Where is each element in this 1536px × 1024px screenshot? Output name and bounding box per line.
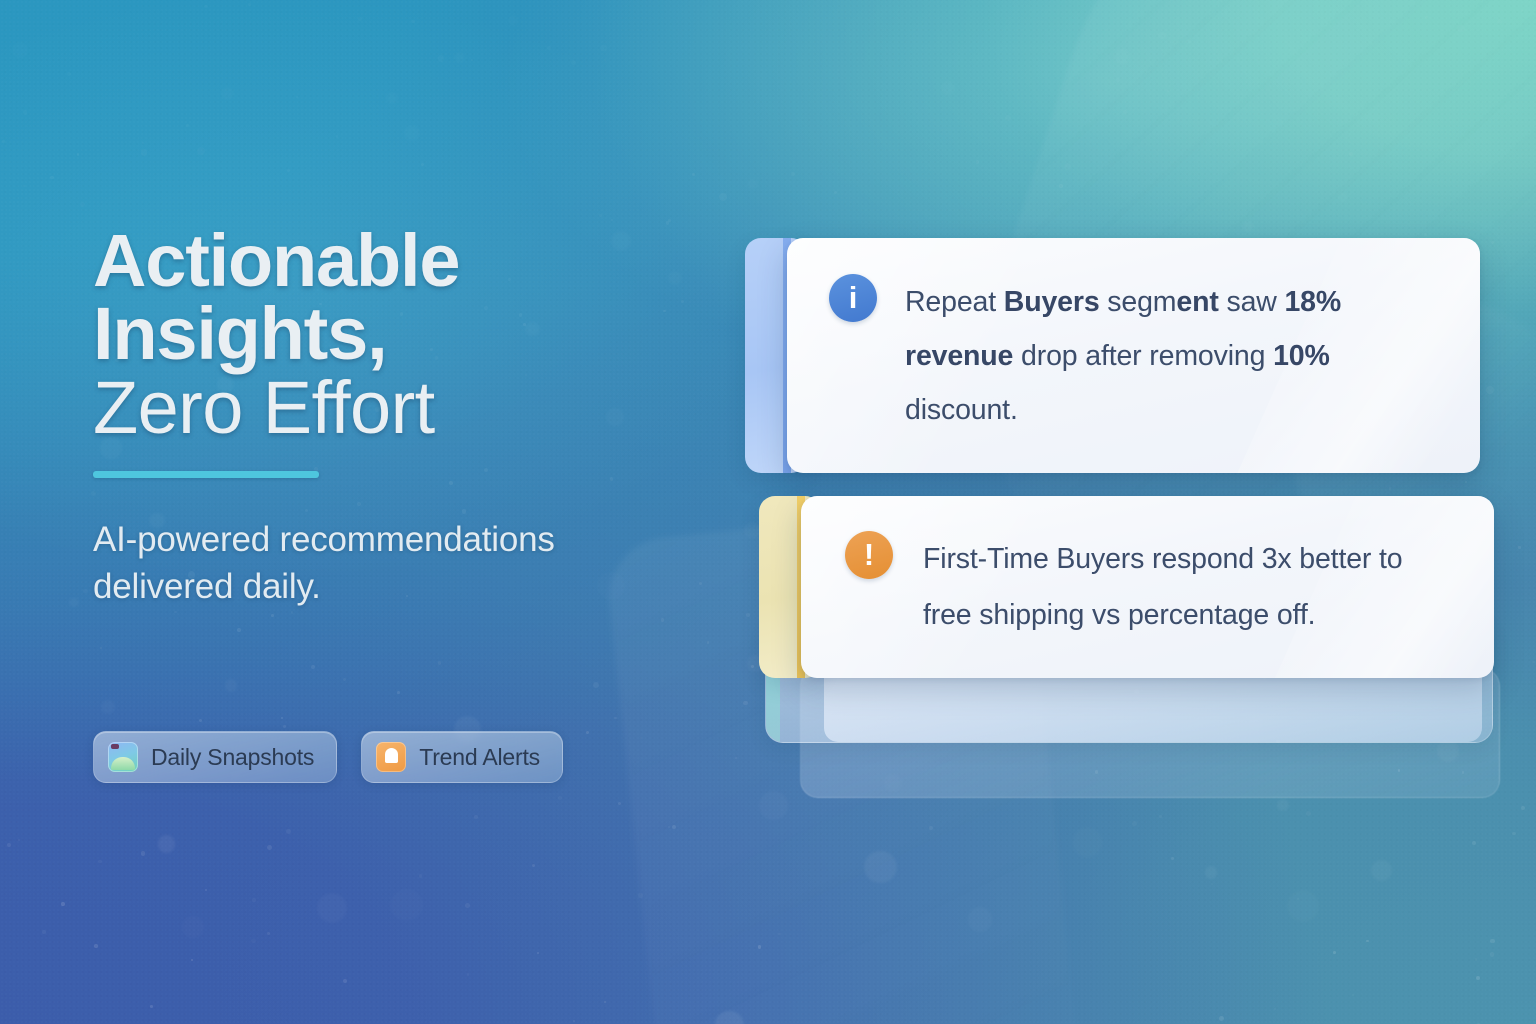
hero-banner: Actionable Insights, Zero Effort AI-powe…: [0, 0, 1536, 1024]
insight-card-text: Repeat Buyers segment saw 18% revenue dr…: [905, 274, 1440, 437]
bell-icon: [376, 742, 406, 772]
chip-label: Daily Snapshots: [151, 744, 314, 771]
chip-trend-alerts[interactable]: Trend Alerts: [361, 731, 563, 783]
info-icon: i: [829, 274, 877, 322]
hero-subtitle: AI-powered recommendations delivered dai…: [93, 516, 693, 611]
insight-card-text: First-Time Buyers respond 3x better to f…: [923, 531, 1454, 643]
insight-card[interactable]: i Repeat Buyers segment saw 18% revenue …: [745, 238, 1480, 473]
photo-icon: [108, 742, 138, 772]
chip-label: Trend Alerts: [419, 744, 540, 771]
headline-line-2: Insights,: [93, 297, 693, 370]
insight-card[interactable]: ! First-Time Buyers respond 3x better to…: [759, 496, 1494, 678]
accent-underline: [93, 471, 319, 478]
insight-card-face: i Repeat Buyers segment saw 18% revenue …: [787, 238, 1480, 473]
hero-copy: Actionable Insights, Zero Effort AI-powe…: [93, 224, 693, 611]
warning-icon: !: [845, 531, 893, 579]
page-title: Actionable Insights, Zero Effort: [93, 224, 693, 444]
insight-card-stack: i Repeat Buyers segment saw 18% revenue …: [745, 238, 1505, 783]
chip-daily-snapshots[interactable]: Daily Snapshots: [93, 731, 337, 783]
headline-line-1: Actionable: [93, 224, 693, 297]
headline-line-3: Zero Effort: [93, 371, 693, 444]
feature-chip-row: Daily Snapshots Trend Alerts: [93, 731, 563, 783]
insight-card-face: ! First-Time Buyers respond 3x better to…: [801, 496, 1494, 678]
